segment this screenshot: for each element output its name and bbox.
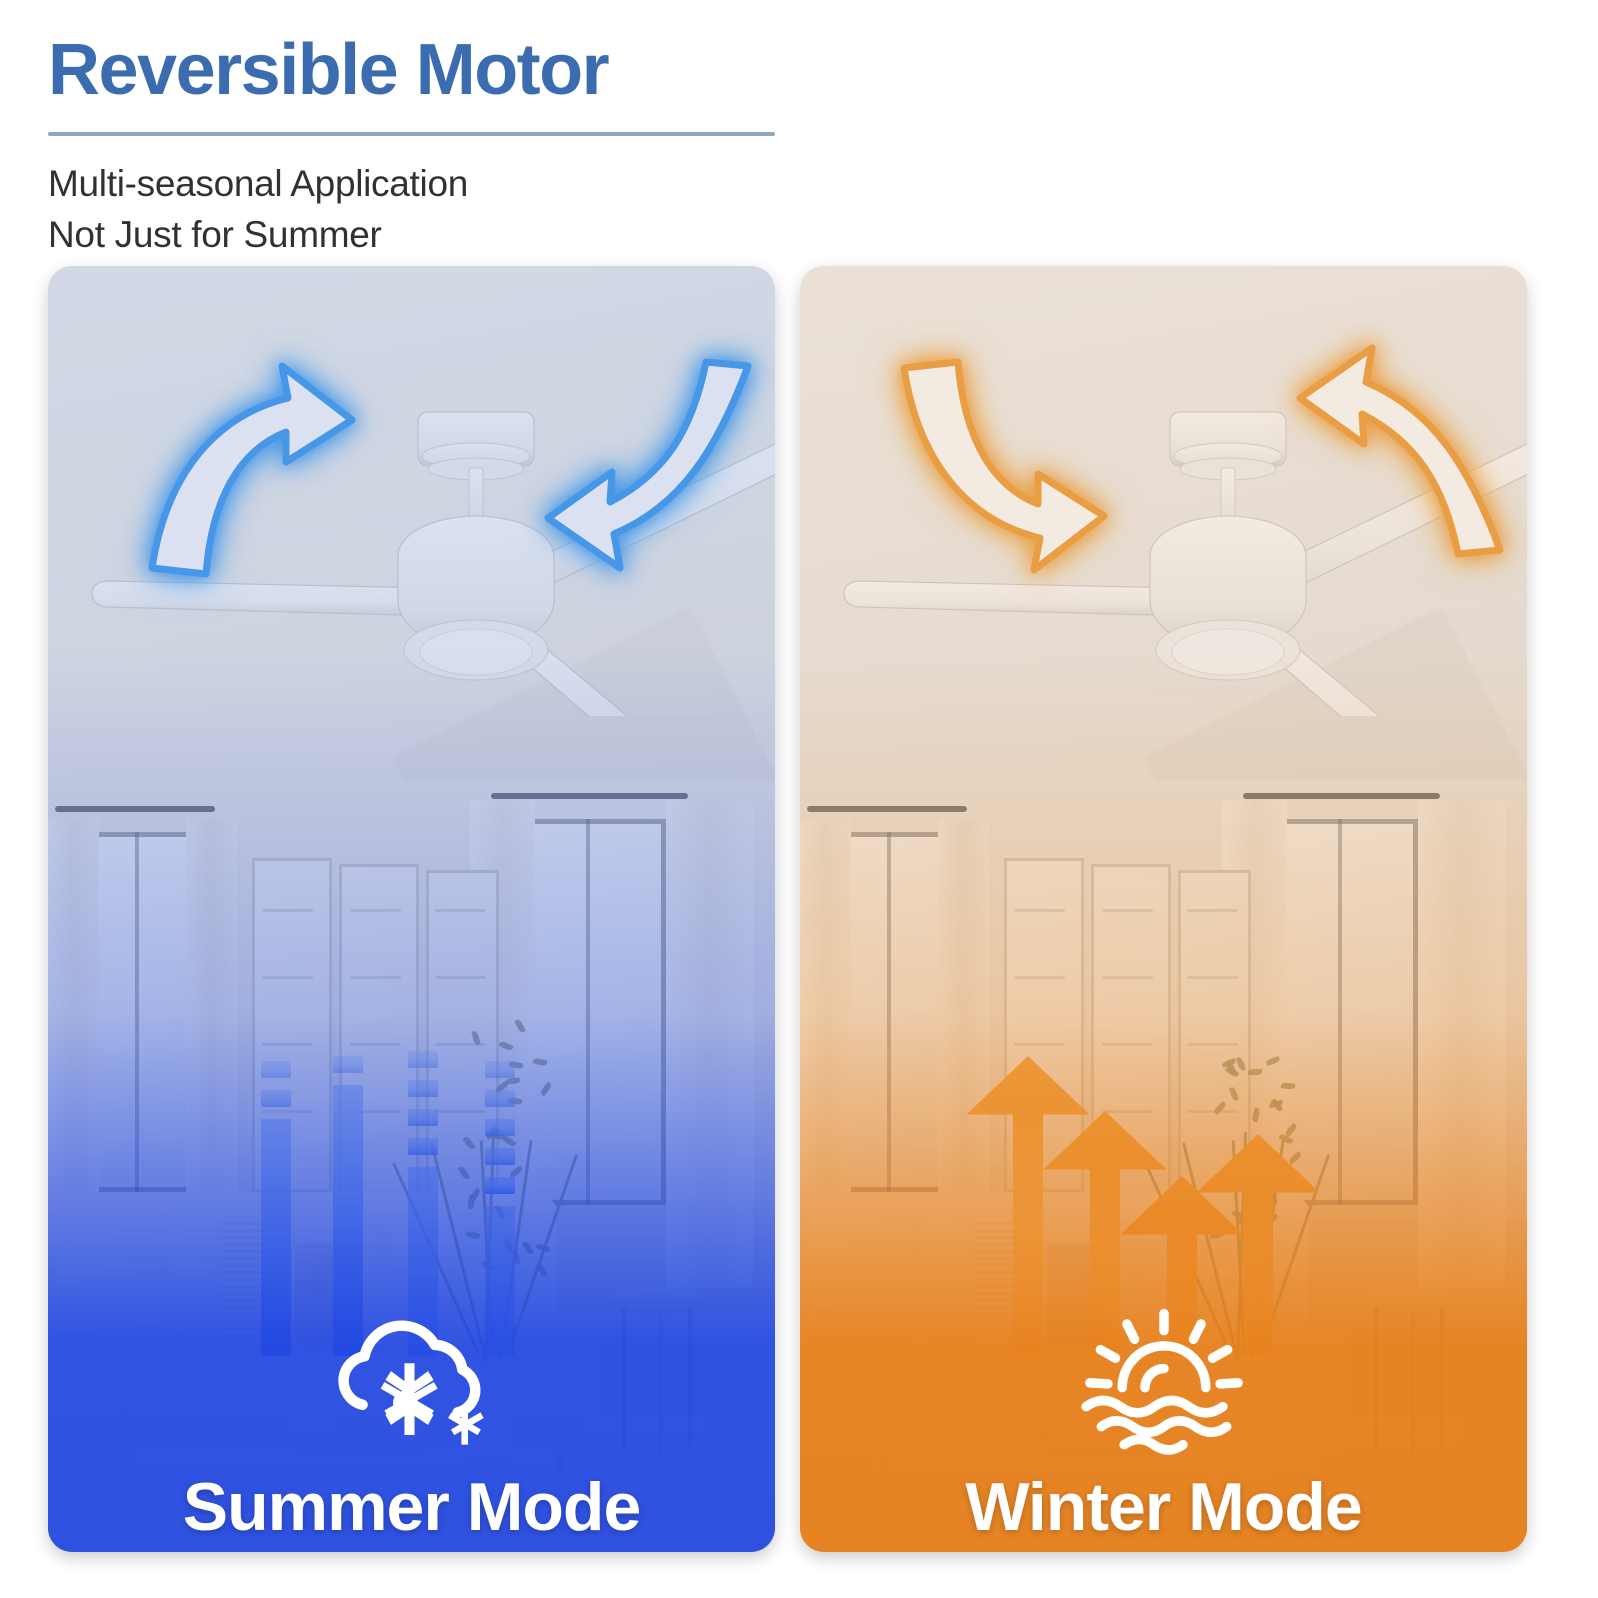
airflow-head — [1044, 1111, 1167, 1170]
airflow-segment — [408, 1138, 438, 1155]
airflow-segment — [485, 1090, 515, 1107]
rotation-arrow-left — [904, 362, 1104, 570]
rotation-arrows-winter — [800, 286, 1527, 686]
airflow-arrows-winter — [800, 656, 1527, 1356]
airflow-segment — [408, 1051, 438, 1068]
rotation-arrows-summer — [48, 286, 775, 686]
airflow-segment — [261, 1061, 291, 1078]
summer-mode-label: Summer Mode Forward Mode Cool Airflow — [48, 1296, 775, 1552]
airflow-segment — [261, 1090, 291, 1107]
airflow-segment — [485, 1061, 515, 1078]
airflow-segment — [485, 1119, 515, 1136]
airflow-segment — [485, 1148, 515, 1165]
page-subtitle: Multi-seasonal Application Not Just for … — [48, 158, 808, 260]
airflow-head — [1197, 1134, 1320, 1193]
title-divider — [48, 132, 775, 136]
subtitle-line-1: Multi-seasonal Application — [48, 158, 808, 209]
sunrise-water-icon — [800, 1296, 1527, 1466]
subtitle-line-2: Not Just for Summer — [48, 209, 808, 260]
winter-mode-label: Winter Mode Reverse Mode Warm Airflow — [800, 1296, 1527, 1552]
airflow-segment — [408, 1080, 438, 1097]
winter-mode-panel[interactable]: Winter Mode Reverse Mode Warm Airflow — [800, 266, 1527, 1552]
airflow-segment — [485, 1177, 515, 1194]
airflow-head — [967, 1056, 1090, 1115]
airflow-segment — [333, 1056, 363, 1073]
page-title: Reversible Motor — [48, 34, 808, 106]
airflow-arrows-summer — [48, 656, 775, 1356]
rotation-arrow-left — [152, 366, 352, 574]
rotation-arrow-right — [1300, 348, 1500, 554]
airflow-segment — [408, 1109, 438, 1126]
header: Reversible Motor Multi-seasonal Applicat… — [48, 34, 808, 260]
summer-mode-title: Summer Mode — [48, 1472, 775, 1543]
cloud-snow-icon — [48, 1296, 775, 1466]
summer-mode-panel[interactable]: Summer Mode Forward Mode Cool Airflow — [48, 266, 775, 1552]
winter-mode-title: Winter Mode — [800, 1472, 1527, 1543]
rotation-arrow-right — [548, 362, 748, 568]
